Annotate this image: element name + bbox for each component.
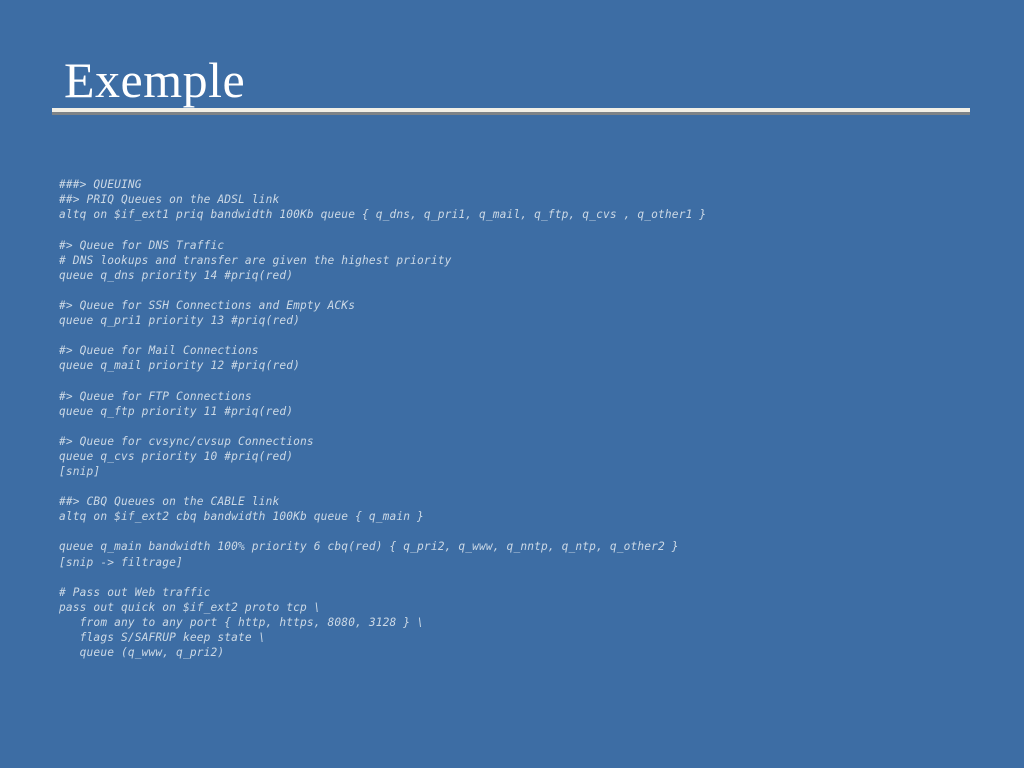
code-line <box>59 524 979 539</box>
code-line: queue q_main bandwidth 100% priority 6 c… <box>59 539 979 554</box>
code-line: from any to any port { http, https, 8080… <box>59 615 979 630</box>
code-line <box>59 570 979 585</box>
code-line <box>59 222 979 237</box>
code-line: ###> QUEUING <box>59 177 979 192</box>
code-line: # DNS lookups and transfer are given the… <box>59 253 979 268</box>
code-line: #> Queue for Mail Connections <box>59 343 979 358</box>
code-line: [snip] <box>59 464 979 479</box>
code-line: queue (q_www, q_pri2) <box>59 645 979 660</box>
code-line: altq on $if_ext2 cbq bandwidth 100Kb que… <box>59 509 979 524</box>
code-line: queue q_dns priority 14 #priq(red) <box>59 268 979 283</box>
code-line: #> Queue for FTP Connections <box>59 389 979 404</box>
code-line: # Pass out Web traffic <box>59 585 979 600</box>
title-divider-dark-band <box>52 112 970 115</box>
code-line: pass out quick on $if_ext2 proto tcp \ <box>59 600 979 615</box>
code-line: queue q_cvs priority 10 #priq(red) <box>59 449 979 464</box>
code-line: queue q_mail priority 12 #priq(red) <box>59 358 979 373</box>
code-line: queue q_pri1 priority 13 #priq(red) <box>59 313 979 328</box>
code-line: #> Queue for cvsync/cvsup Connections <box>59 434 979 449</box>
code-line: #> Queue for SSH Connections and Empty A… <box>59 298 979 313</box>
code-line: #> Queue for DNS Traffic <box>59 238 979 253</box>
code-line <box>59 283 979 298</box>
code-listing: ###> QUEUING##> PRIQ Queues on the ADSL … <box>59 177 979 660</box>
code-line <box>59 373 979 388</box>
slide-canvas: Exemple ###> QUEUING##> PRIQ Queues on t… <box>0 0 1024 768</box>
code-line <box>59 419 979 434</box>
code-line: queue q_ftp priority 11 #priq(red) <box>59 404 979 419</box>
code-line <box>59 328 979 343</box>
code-line: flags S/SAFRUP keep state \ <box>59 630 979 645</box>
code-line: ##> CBQ Queues on the CABLE link <box>59 494 979 509</box>
page-title: Exemple <box>64 52 245 108</box>
code-line: ##> PRIQ Queues on the ADSL link <box>59 192 979 207</box>
title-divider <box>52 108 970 115</box>
code-line: [snip -> filtrage] <box>59 555 979 570</box>
code-line: altq on $if_ext1 priq bandwidth 100Kb qu… <box>59 207 979 222</box>
code-line <box>59 479 979 494</box>
